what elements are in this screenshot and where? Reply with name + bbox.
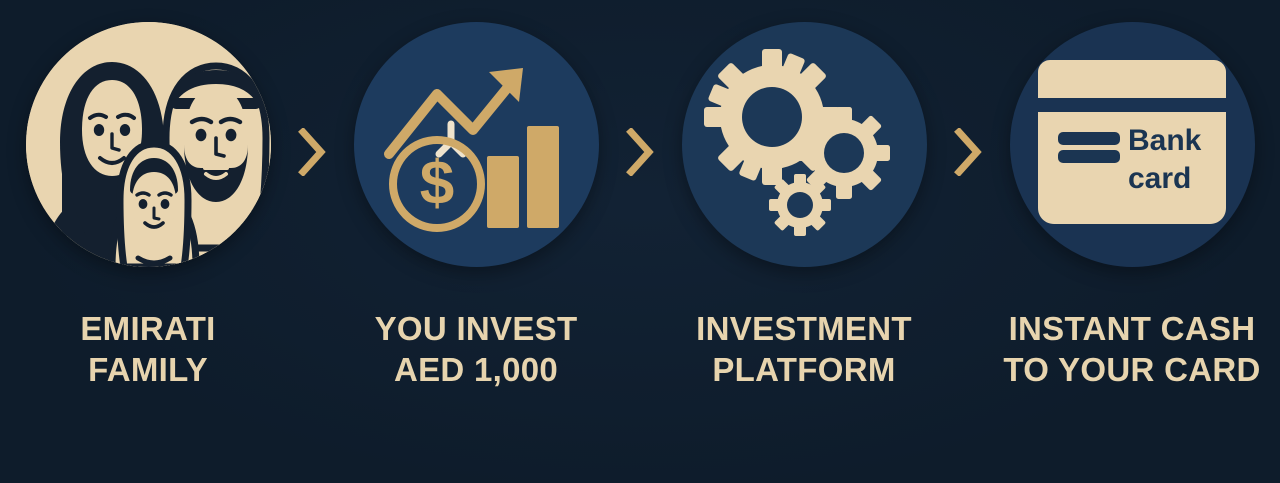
card-top-stripe	[1038, 60, 1226, 98]
step-investment-platform[interactable]: INVESTMENT PLATFORM	[659, 0, 949, 420]
separator-1	[293, 0, 331, 420]
card-label-line1: Bank	[1128, 124, 1202, 157]
step-1-circle	[26, 22, 271, 267]
bank-card-icon: Bank card	[1032, 60, 1232, 230]
infographic-root: EMIRATI FAMILY $	[0, 0, 1280, 483]
gears-icon	[704, 45, 904, 245]
steps-row: EMIRATI FAMILY $	[0, 0, 1280, 483]
step-2-circle: $	[354, 22, 599, 267]
step-emirati-family[interactable]: EMIRATI FAMILY	[3, 0, 293, 420]
step-3-circle	[682, 22, 927, 267]
separator-2	[621, 0, 659, 420]
separator-3	[949, 0, 987, 420]
step-2-label: YOU INVEST AED 1,000	[375, 309, 578, 391]
step-you-invest[interactable]: $ YOU INVEST AED 1,000	[331, 0, 621, 420]
step-3-label: INVESTMENT PLATFORM	[696, 309, 912, 391]
chevron-right-icon	[625, 128, 655, 176]
step-instant-cash[interactable]: Bank card INSTANT CASH TO YOUR CARD	[987, 0, 1277, 420]
chevron-right-icon	[297, 128, 327, 176]
step-4-label: INSTANT CASH TO YOUR CARD	[1003, 309, 1260, 391]
emirati-family-icon	[26, 22, 271, 267]
card-label-line2: card	[1128, 162, 1191, 195]
currency-symbol: $	[420, 149, 454, 218]
investment-growth-chart-icon: $	[381, 50, 571, 240]
step-4-circle: Bank card	[1010, 22, 1255, 267]
step-1-label: EMIRATI FAMILY	[80, 309, 215, 391]
chevron-right-icon	[953, 128, 983, 176]
